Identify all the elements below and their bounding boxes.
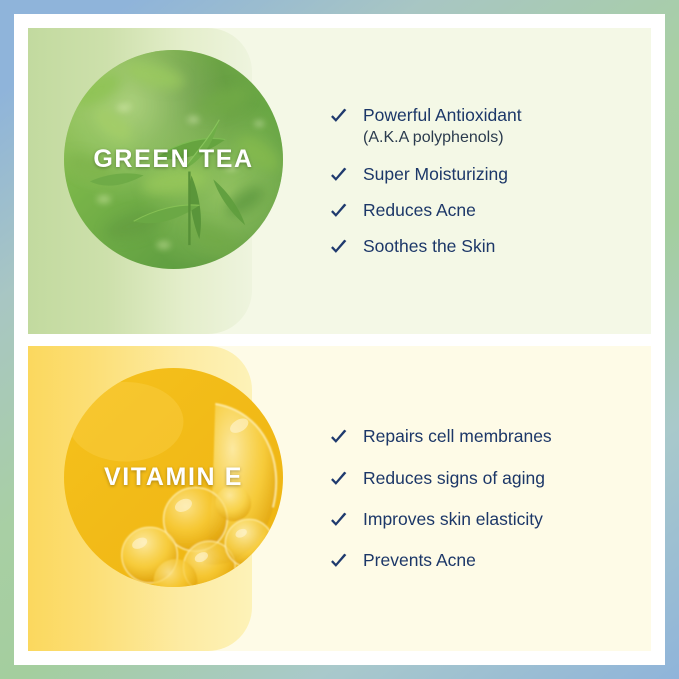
benefit-item: Prevents Acne [328, 548, 627, 572]
benefit-title: Powerful Antioxidant [363, 105, 522, 125]
vitamin-e-image-circle: VITAMIN E [64, 368, 283, 587]
green-tea-benefits-list: Powerful Antioxidant (A.K.A polyphenols)… [328, 28, 627, 334]
green-tea-image-circle: GREEN TEA [64, 50, 283, 269]
benefit-item: Powerful Antioxidant (A.K.A polyphenols) [328, 103, 627, 150]
checkmark-icon [328, 165, 349, 186]
checkmark-icon [328, 427, 349, 448]
checkmark-icon [328, 551, 349, 572]
benefit-label: Reduces Acne [363, 198, 476, 222]
benefit-label: Super Moisturizing [363, 162, 508, 186]
benefit-label: Prevents Acne [363, 548, 476, 572]
checkmark-icon [328, 510, 349, 531]
checkmark-icon [328, 201, 349, 222]
benefit-item: Soothes the Skin [328, 234, 627, 258]
benefit-sublabel: (A.K.A polyphenols) [363, 127, 522, 149]
benefit-label: Soothes the Skin [363, 234, 495, 258]
benefit-item: Super Moisturizing [328, 162, 627, 186]
white-frame: GREEN TEA Powerful Antioxidant (A.K.A po… [14, 14, 665, 665]
checkmark-icon [328, 106, 349, 127]
benefit-label: Powerful Antioxidant (A.K.A polyphenols) [363, 103, 522, 150]
vitamin-e-badge-label: VITAMIN E [104, 463, 243, 492]
benefit-item: Reduces signs of aging [328, 466, 627, 490]
benefit-label: Reduces signs of aging [363, 466, 545, 490]
benefit-item: Repairs cell membranes [328, 424, 627, 448]
card-vitamin-e: VITAMIN E Repairs cell membranes Reduces… [28, 346, 651, 652]
benefit-item: Improves skin elasticity [328, 507, 627, 531]
benefit-label: Repairs cell membranes [363, 424, 552, 448]
green-tea-badge-label: GREEN TEA [93, 145, 253, 174]
benefit-item: Reduces Acne [328, 198, 627, 222]
vitamin-e-benefits-list: Repairs cell membranes Reduces signs of … [328, 346, 627, 652]
benefit-label: Improves skin elasticity [363, 507, 543, 531]
checkmark-icon [328, 237, 349, 258]
checkmark-icon [328, 469, 349, 490]
ingredient-benefits-infographic: GREEN TEA Powerful Antioxidant (A.K.A po… [0, 0, 679, 679]
card-green-tea: GREEN TEA Powerful Antioxidant (A.K.A po… [28, 28, 651, 334]
